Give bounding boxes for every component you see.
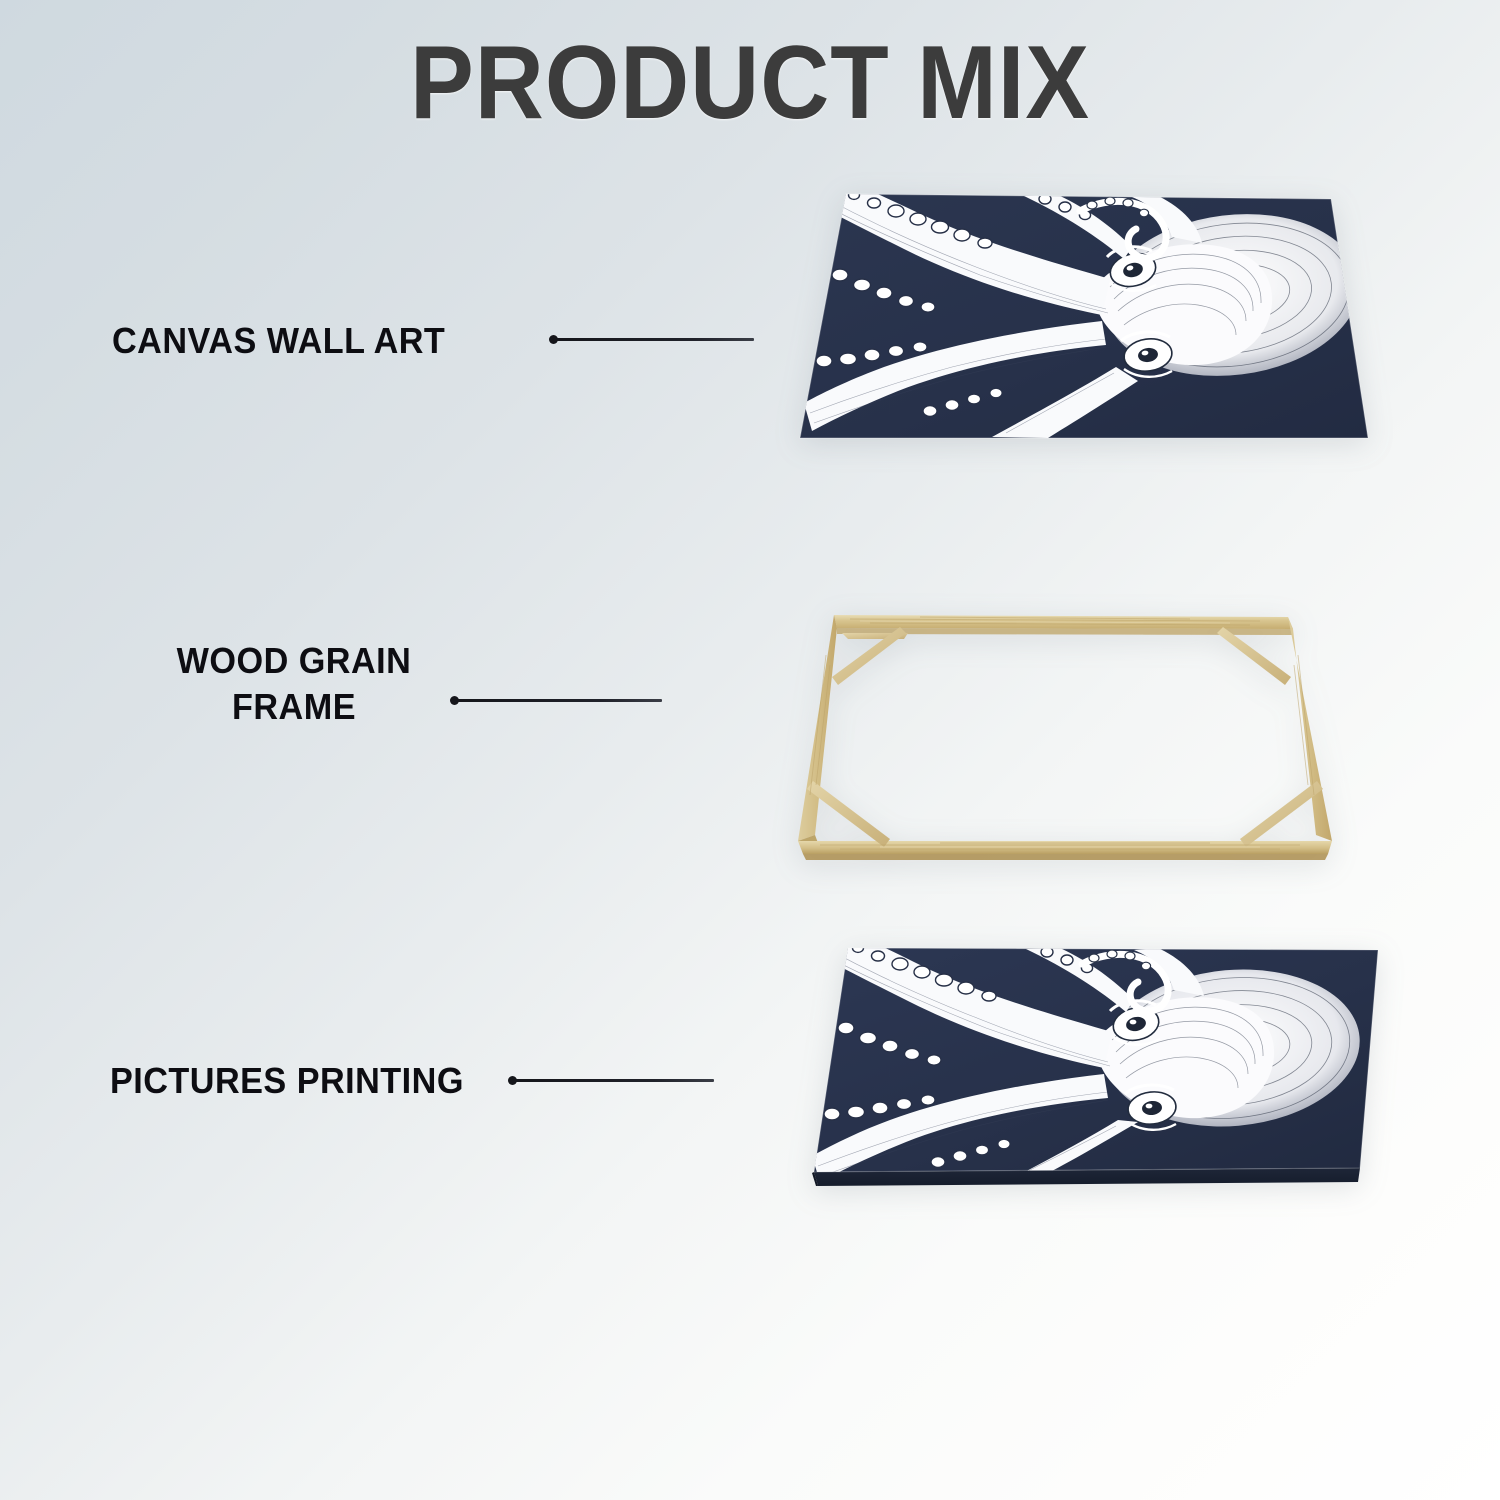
leader-line-wood-grain-frame — [450, 693, 662, 707]
frame-bottom-edge — [803, 854, 1328, 860]
frame-brace-bottom-right — [1240, 781, 1323, 847]
leader-stroke — [514, 1079, 714, 1082]
product-image-canvas-wall-art — [780, 175, 1400, 475]
wood-grain-lines — [810, 617, 1314, 849]
leader-stroke — [555, 338, 754, 341]
feature-label-line-2: FRAME — [232, 686, 356, 727]
feature-label-pictures-printing: PICTURES PRINTING — [110, 1058, 464, 1104]
leader-stroke — [456, 699, 662, 702]
feature-label-line-1: WOOD GRAIN — [177, 640, 412, 681]
product-image-wood-grain-frame — [780, 595, 1340, 870]
frame-brace-top-right — [1217, 627, 1291, 685]
page-title: PRODUCT MIX — [60, 24, 1440, 143]
feature-label-wood-grain-frame: WOOD GRAINFRAME — [167, 638, 422, 730]
frame-brace-bottom-left — [807, 781, 890, 847]
product-image-pictures-printing — [800, 930, 1410, 1220]
leader-line-pictures-printing — [508, 1073, 714, 1087]
feature-label-canvas-wall-art: CANVAS WALL ART — [112, 318, 445, 364]
leader-line-canvas-wall-art — [549, 332, 754, 346]
infographic-canvas: PRODUCT MIX CANVAS WALL ART WOOD GRAINFR… — [0, 0, 1500, 1500]
